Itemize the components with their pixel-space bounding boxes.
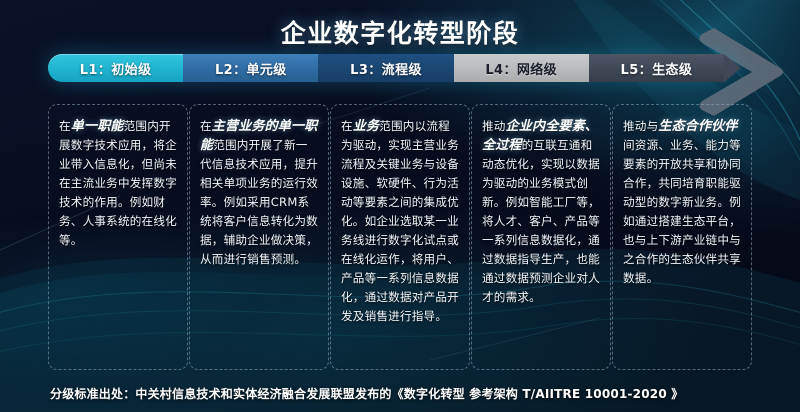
body-text: 的互联互通和动态优化，实现以数据为驱动的业务模式创新。例如智能工厂等，将人才、客…: [482, 138, 600, 304]
level-segment-l3[interactable]: L3：流程级: [318, 54, 453, 82]
level-card-l2: 在主营业务的单一职能范围内开展了新一代信息技术应用，提升相关单项业务的运行效率。…: [189, 104, 329, 370]
emphasis-text: 单一职能: [71, 119, 124, 134]
body-text: 在: [59, 119, 71, 133]
level-segment-l2[interactable]: L2：单元级: [183, 54, 318, 82]
body-text: 间资源、业务、能力等要素的开放共享和协同合作，共同培育职能驱动型的数字新业务。例…: [623, 138, 741, 285]
level-segment-l4[interactable]: L4：网络级: [454, 54, 589, 82]
level-card-l1: 在单一职能范围内开展数字技术应用，将企业带入信息化，但尚未在主流业务中发挥数字技…: [48, 104, 188, 370]
maturity-level-bar: L1：初始级 L2：单元级 L3：流程级 L4：网络级 L5：生态级: [48, 54, 724, 82]
level-card-l5-text: 推动与生态合作伙伴间资源、业务、能力等要素的开放共享和协同合作，共同培育职能驱动…: [623, 117, 741, 288]
level-segment-l4-label: L4：网络级: [485, 59, 557, 78]
source-note: 分级标准出处：中关村信息技术和实体经济融合发展联盟发布的《数字化转型 参考架构 …: [50, 385, 683, 402]
level-description-cards: 在单一职能范围内开展数字技术应用，将企业带入信息化，但尚未在主流业务中发挥数字技…: [48, 104, 752, 370]
level-card-l4: 推动企业内全要素、全过程的互联互通和动态优化，实现以数据为驱动的业务模式创新。例…: [471, 104, 611, 370]
page-title: 企业数字化转型阶段: [0, 14, 800, 50]
level-card-l5: 推动与生态合作伙伴间资源、业务、能力等要素的开放共享和协同合作，共同培育职能驱动…: [612, 104, 752, 370]
body-text: 范围内以流程为驱动，实现主营业务流程及关键业务与设备设施、软硬件、行为活动等要素…: [341, 119, 459, 323]
body-text: 在: [200, 119, 212, 133]
body-text: 范围内开展数字技术应用，将企业带入信息化，但尚未在主流业务中发挥数字技术的作用。…: [59, 119, 177, 247]
level-segment-l2-label: L2：单元级: [215, 59, 287, 78]
level-segment-l1-label: L1：初始级: [80, 59, 152, 78]
body-text: 范围内开展了新一代信息技术应用，提升相关单项业务的运行效率。例如采用CRM系统将…: [200, 138, 318, 266]
level-card-l3: 在业务范围内以流程为驱动，实现主营业务流程及关键业务与设备设施、软硬件、行为活动…: [330, 104, 470, 370]
level-card-l4-text: 推动企业内全要素、全过程的互联互通和动态优化，实现以数据为驱动的业务模式创新。例…: [482, 117, 600, 307]
emphasis-text: 业务: [353, 119, 379, 134]
emphasis-text: 生态合作伙伴: [658, 119, 737, 134]
level-segment-l5-label: L5：生态级: [621, 59, 693, 78]
level-card-l2-text: 在主营业务的单一职能范围内开展了新一代信息技术应用，提升相关单项业务的运行效率。…: [200, 117, 318, 269]
body-text: 推动: [482, 119, 506, 133]
level-card-l3-text: 在业务范围内以流程为驱动，实现主营业务流程及关键业务与设备设施、软硬件、行为活动…: [341, 117, 459, 326]
slide-canvas: 企业数字化转型阶段 L1：初始级 L2：单元级 L3：流程级 L4：网络级 L5…: [0, 0, 800, 412]
level-segment-l5[interactable]: L5：生态级: [589, 54, 724, 82]
body-text: 推动与: [623, 119, 658, 133]
body-text: 在: [341, 119, 353, 133]
level-card-l1-text: 在单一职能范围内开展数字技术应用，将企业带入信息化，但尚未在主流业务中发挥数字技…: [59, 117, 177, 250]
level-segment-l3-label: L3：流程级: [350, 59, 422, 78]
level-segment-l1[interactable]: L1：初始级: [48, 54, 183, 82]
